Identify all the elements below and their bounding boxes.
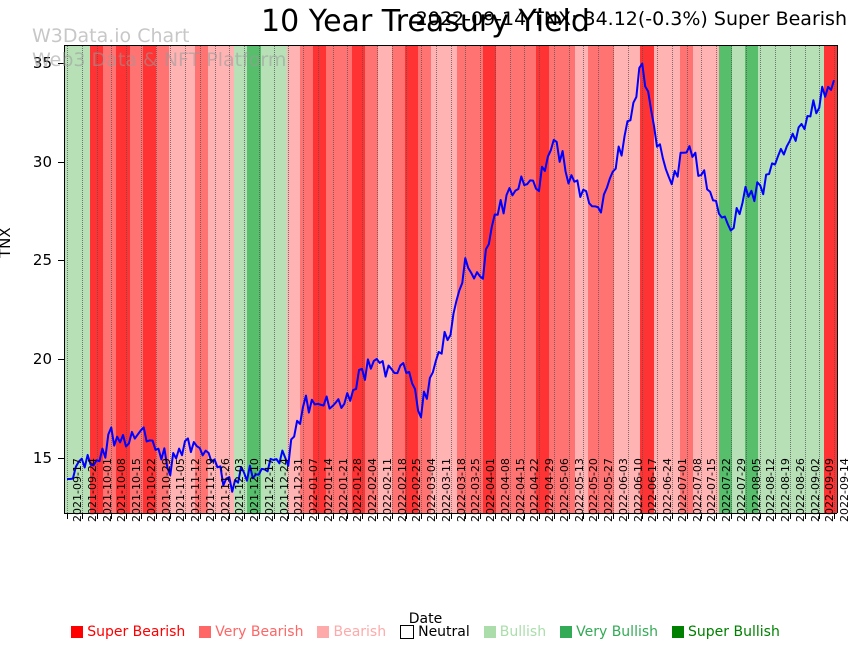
legend-swatch xyxy=(400,625,414,639)
chart-page: 10 Year Treasury Yield 1520253035 TNX 20… xyxy=(0,0,851,646)
x-tick-mark xyxy=(642,513,643,519)
x-tick-mark xyxy=(451,513,452,519)
y-tick-mark xyxy=(58,359,64,360)
legend-label: Super Bullish xyxy=(688,624,780,640)
legend: Super BearishVery BearishBearishNeutralB… xyxy=(0,624,851,640)
plot-right-border xyxy=(837,45,838,513)
x-tick-mark xyxy=(347,513,348,519)
y-tick-mark xyxy=(58,260,64,261)
x-tick-mark xyxy=(244,513,245,519)
x-tick-mark xyxy=(288,513,289,519)
x-tick-mark xyxy=(333,513,334,519)
x-tick-mark xyxy=(701,513,702,519)
x-tick-mark xyxy=(510,513,511,519)
x-tick-mark xyxy=(215,513,216,519)
x-tick-mark xyxy=(406,513,407,519)
x-tick-mark xyxy=(628,513,629,519)
legend-swatch xyxy=(71,626,83,638)
legend-item[interactable]: Super Bullish xyxy=(672,624,780,640)
x-tick-mark xyxy=(82,513,83,519)
x-tick-mark xyxy=(392,513,393,519)
y-tick-mark xyxy=(58,63,64,64)
x-tick-mark xyxy=(598,513,599,519)
legend-swatch xyxy=(560,626,572,638)
x-tick-mark xyxy=(790,513,791,519)
y-axis-label: TNX xyxy=(0,227,14,258)
x-tick-mark xyxy=(613,513,614,519)
x-tick-mark xyxy=(97,513,98,519)
legend-item[interactable]: Very Bullish xyxy=(560,624,658,640)
x-tick-mark xyxy=(569,513,570,519)
x-tick-mark xyxy=(583,513,584,519)
x-tick-mark xyxy=(274,513,275,519)
y-tick-mark xyxy=(58,162,64,163)
x-tick-mark xyxy=(657,513,658,519)
y-tick-label: 25 xyxy=(22,251,52,269)
legend-label: Very Bearish xyxy=(215,624,303,640)
legend-item[interactable]: Bullish xyxy=(484,624,546,640)
y-tick-mark xyxy=(58,458,64,459)
x-tick-mark xyxy=(421,513,422,519)
x-tick-mark xyxy=(200,513,201,519)
x-tick-mark xyxy=(495,513,496,519)
legend-swatch xyxy=(317,626,329,638)
x-tick-mark xyxy=(554,513,555,519)
x-tick-mark xyxy=(318,513,319,519)
x-tick-mark xyxy=(746,513,747,519)
x-tick-mark xyxy=(170,513,171,519)
x-tick-mark xyxy=(805,513,806,519)
legend-item[interactable]: Neutral xyxy=(400,624,470,640)
x-tick-mark xyxy=(229,513,230,519)
x-tick-mark xyxy=(362,513,363,519)
y-tick-label: 35 xyxy=(22,54,52,72)
x-tick-mark xyxy=(259,513,260,519)
legend-swatch xyxy=(484,626,496,638)
legend-item[interactable]: Super Bearish xyxy=(71,624,185,640)
x-tick-mark xyxy=(775,513,776,519)
x-tick-mark xyxy=(111,513,112,519)
x-tick-mark xyxy=(156,513,157,519)
x-tick-mark xyxy=(67,513,68,519)
x-tick-mark xyxy=(465,513,466,519)
x-tick-mark xyxy=(760,513,761,519)
y-tick-label: 20 xyxy=(22,350,52,368)
legend-item[interactable]: Bearish xyxy=(317,624,386,640)
x-tick-mark xyxy=(687,513,688,519)
x-tick-mark xyxy=(141,513,142,519)
yield-line-series xyxy=(64,45,837,513)
x-tick-label: 2022-09-14 xyxy=(838,458,851,522)
x-tick-mark xyxy=(480,513,481,519)
yield-line xyxy=(67,64,834,492)
plot-top-border xyxy=(64,45,837,46)
x-tick-mark xyxy=(303,513,304,519)
x-tick-mark xyxy=(819,513,820,519)
x-tick-mark xyxy=(185,513,186,519)
legend-swatch xyxy=(672,626,684,638)
x-tick-mark xyxy=(716,513,717,519)
x-tick-mark xyxy=(377,513,378,519)
legend-label: Super Bearish xyxy=(87,624,185,640)
legend-label: Bearish xyxy=(333,624,386,640)
x-tick-mark xyxy=(524,513,525,519)
legend-swatch xyxy=(199,626,211,638)
plot-area xyxy=(64,45,837,513)
y-tick-label: 30 xyxy=(22,153,52,171)
legend-label: Bullish xyxy=(500,624,546,640)
x-tick-mark xyxy=(126,513,127,519)
legend-label: Very Bullish xyxy=(576,624,658,640)
x-tick-mark xyxy=(834,513,835,519)
x-tick-mark xyxy=(436,513,437,519)
x-tick-mark xyxy=(672,513,673,519)
x-tick-mark xyxy=(731,513,732,519)
y-axis-line xyxy=(64,45,65,513)
legend-item[interactable]: Very Bearish xyxy=(199,624,303,640)
legend-label: Neutral xyxy=(418,624,470,640)
latest-value-annotation: 2022-09-14 TNX: 34.12(-0.3%) Super Beari… xyxy=(416,8,847,30)
x-tick-mark xyxy=(539,513,540,519)
y-tick-label: 15 xyxy=(22,449,52,467)
